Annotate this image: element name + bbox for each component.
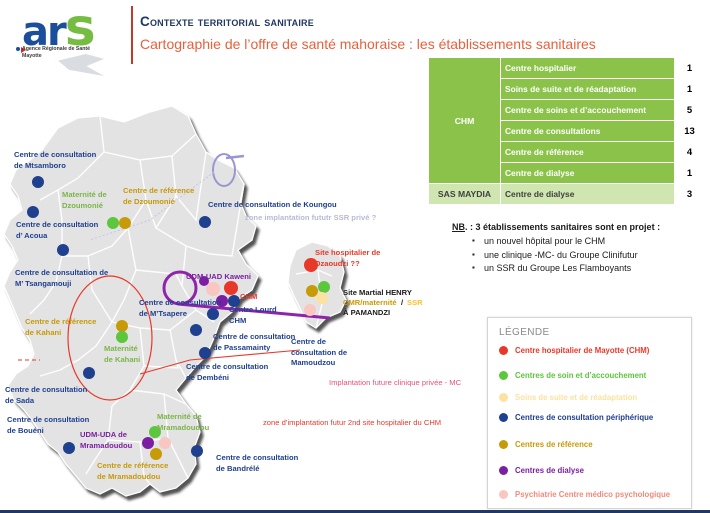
table-cell-value: 4	[675, 142, 705, 163]
map-marker-pt-pamandzi-psy[interactable]	[304, 304, 316, 316]
map-annotation-martial-henry-l1: Site Martial HENRY	[343, 288, 412, 299]
map-marker-pt-mramadoudou-udm[interactable]	[142, 437, 154, 449]
map-label-sada: Centre de consultationde Sada	[5, 385, 87, 406]
table-cell-value: 13	[675, 121, 705, 142]
map-label-line: Mamoudzou	[291, 358, 347, 369]
map-label-line: Centre de consultation	[16, 220, 98, 231]
map-label-line: de M’Tsapere	[139, 309, 221, 320]
legend-dot-icon	[499, 393, 508, 402]
map-annotation-martial-henry-l2c: SSR	[407, 298, 423, 309]
map-label-acoua: Centre de consultationd’ Acoua	[16, 220, 98, 241]
map-label-line: UDM-UAD Kaweni	[186, 272, 251, 283]
map-marker-pt-maternite-kahani[interactable]	[116, 331, 128, 343]
map-annotation-martial-henry-l2a: CMR/maternité	[343, 298, 397, 309]
table-cell-value: 1	[675, 79, 705, 100]
map-label-line: Site hospitalier de	[315, 248, 380, 259]
map-marker-pt-pamandzi-ssr[interactable]	[316, 292, 328, 304]
map-marker-pt-mramadoudou-ref[interactable]	[150, 448, 162, 460]
list-item: un SSR du Groupe Les Flamboyants	[472, 262, 660, 276]
logo-blue-dot-icon	[16, 47, 20, 51]
map-label-boueni: Centre de consultationde Bouéni	[7, 415, 89, 436]
map-annotation-implantation-mc: Implantation future clinique privée - MC	[329, 378, 461, 389]
map-marker-pt-acoua[interactable]	[27, 206, 39, 218]
legend-item-label: Centres de soin et d’accouchement	[515, 371, 646, 380]
legend-item-label: Soins de suite et de réadaptation	[515, 393, 637, 402]
table-cell-label: Centre de soins et d’accouchement	[501, 100, 675, 121]
map-label-line: d’ Acoua	[16, 231, 98, 242]
map-label-line: de Kahani	[104, 355, 140, 366]
legend-dot-icon	[499, 466, 508, 475]
map-label-line: Mramadoudou	[157, 423, 209, 434]
table-cell-label: Centre de dialyse	[501, 163, 675, 184]
map-marker-pt-dembeni[interactable]	[199, 347, 211, 359]
map-label-line: CHM	[240, 292, 257, 303]
map-label-zone-ssr: zone implantation fututr SSR privé ?	[245, 213, 376, 224]
map-label-line: Maternité de	[157, 412, 209, 423]
map-marker-pt-mramadoudou-psy[interactable]	[159, 437, 171, 449]
map-marker-pt-ref-dzoumogne[interactable]	[119, 217, 131, 229]
map-label-mtsamboro: Centre de consultationde Mtsamboro	[14, 150, 96, 171]
legend-item: Centres de consultation périphérique	[499, 413, 653, 422]
map-label-line: Centre de référence	[97, 461, 168, 472]
map-label-line: de Mramadoudou	[97, 472, 168, 483]
map-label-line: Dzoumonié	[62, 201, 107, 212]
legend-dot-icon	[499, 440, 508, 449]
map-marker-pt-mtsangamouji[interactable]	[57, 244, 69, 256]
legend-item: Centres de référence	[499, 440, 593, 449]
legend-dot-icon	[499, 346, 508, 355]
map-label-chm: CHM	[240, 292, 257, 303]
map-label-line: zone implantation fututr SSR privé ?	[245, 213, 376, 224]
map-label-line: Maternité de	[62, 190, 107, 201]
map-label-line: CHM	[229, 316, 277, 327]
map-annotation-zone-2nd-site: zone d’implantation futur 2nd site hospi…	[263, 418, 441, 429]
map-label-line: Centre de consultation de	[15, 268, 108, 279]
map-label-ref-mramadoudou: Centre de référencede Mramadoudou	[97, 461, 168, 482]
legend-item-label: Centres de référence	[515, 440, 593, 449]
map-label-line: de Dembéni	[186, 373, 268, 384]
table-cell-label: Centre hospitalier	[501, 58, 675, 79]
map-marker-pt-boueni[interactable]	[63, 442, 75, 454]
map-label-mtsangamouji: Centre de consultation deM’ Tsangamouji	[15, 268, 108, 289]
map-label-bandrele: Centre de consultationde Bandrélé	[216, 453, 298, 474]
ars-tagline: Agence Régionale de Santé	[22, 46, 90, 53]
table-cell-value: 1	[675, 58, 705, 79]
map-marker-pt-mtsamboro[interactable]	[32, 176, 44, 188]
map-marker-pt-bandrele[interactable]	[191, 445, 203, 457]
map-label-maternite-dzoumogne: Maternité deDzoumonié	[62, 190, 107, 211]
map-label-line: de Sada	[5, 396, 87, 407]
map-marker-pt-maternite-dzoumogne[interactable]	[107, 217, 119, 229]
map-label-line: de Bandrélé	[216, 464, 298, 475]
map-annotation-martial-henry-l2b: /	[401, 298, 403, 309]
map-label-line: Centre de consultation	[186, 362, 268, 373]
map-label-line: de Dzoumonié	[123, 197, 194, 208]
table-cell-value: 5	[675, 100, 705, 121]
map-label-line: Centre de consultation	[14, 150, 96, 161]
page-subtitle: Cartographie de l’offre de santé mahorai…	[140, 36, 596, 52]
legend-item-label: Psychiatrie Centre médico psychologique	[515, 490, 670, 499]
list-item: un nouvel hôpital pour le CHM	[472, 235, 660, 249]
map-label-mamoudzou: Centre deconsultation deMamoudzou	[291, 337, 347, 369]
map-label-line: Centre de référence	[123, 186, 194, 197]
map-label-udm-uda-mramadoudou: UDM-UDA deMramadoudou	[80, 430, 132, 451]
legend-box: LÉGENDE Centre hospitalier de Mayotte (C…	[487, 317, 692, 509]
map-annotation-martial-henry-l3: À PAMANDZI	[343, 308, 390, 319]
table-cell-label: Centre de consultations	[501, 121, 675, 142]
legend-dot-icon	[499, 413, 508, 422]
ars-region: Mayotte	[22, 53, 42, 59]
map-label-maternite-kahani: Maternitéde Kahani	[104, 344, 140, 365]
table-cell-value: 1	[675, 163, 705, 184]
table-cell-label: Soins de suite et de réadaptation	[501, 79, 675, 100]
map-label-line: M’ Tsangamouji	[15, 279, 108, 290]
legend-item: Centres de dialyse	[499, 466, 584, 475]
map-label-line: Centre de consultation	[5, 385, 87, 396]
map-label-line: consultation de	[291, 348, 347, 359]
map-label-udm-uad-kaweni: UDM-UAD Kaweni	[186, 272, 251, 283]
map-label-line: Centre de consultation	[7, 415, 89, 426]
legend-item-label: Centres de dialyse	[515, 466, 584, 475]
project-note-list: un nouvel hôpital pour le CHM une cliniq…	[472, 235, 660, 276]
map-label-line: Centre de référence	[25, 317, 96, 328]
map-label-centre-lourd: Centre LourdCHM	[229, 305, 277, 326]
map-label-line: Centre de consultation	[213, 332, 295, 343]
legend-item: Soins de suite et de réadaptation	[499, 393, 637, 402]
table-cell-label: Centre de référence	[501, 142, 675, 163]
legend-item: Psychiatrie Centre médico psychologique	[499, 490, 670, 499]
header-divider	[131, 6, 133, 64]
table-cell-label: Centre de dialyse	[501, 184, 675, 205]
map-label-line: de Bouéni	[7, 426, 89, 437]
legend-item-label: Centre hospitalier de Mayotte (CHM)	[515, 346, 649, 355]
map-label-line: Centre de	[291, 337, 347, 348]
legend-item: Centres de soin et d’accouchement	[499, 371, 646, 380]
map-label-line: UDM-UDA de	[80, 430, 132, 441]
map-label-koungou: Centre de consultation de Koungou	[208, 200, 337, 211]
legend-dot-icon	[499, 371, 508, 380]
map-marker-pt-koungou[interactable]	[199, 216, 211, 228]
legend-item-label: Centres de consultation périphérique	[515, 413, 653, 422]
map-marker-pt-chm[interactable]	[224, 281, 238, 295]
map-label-line: Maternité	[104, 344, 140, 355]
map-label-dzaoudzi: Site hospitalier deDzaoudzi ??	[315, 248, 380, 269]
map-label-ref-kahani: Centre de référencede Kahani	[25, 317, 96, 338]
list-item: une clinique -MC- du Groupe Clinifutur	[472, 249, 660, 263]
map-label-line: Centre de consultation	[216, 453, 298, 464]
poster-root: ars Agence Régionale de Santé Mayotte Co…	[0, 0, 710, 513]
map-label-passamainty: Centre de consultationde Passamainty	[213, 332, 295, 353]
map-label-line: Centre de consultation	[139, 298, 221, 309]
map-label-dembeni: Centre de consultationde Dembéni	[186, 362, 268, 383]
map-label-line: Centre de consultation de Koungou	[208, 200, 337, 211]
map-label-mtsapere: Centre de consultationde M’Tsapere	[139, 298, 221, 319]
map-label-line: Mramadoudou	[80, 441, 132, 452]
ars-logo: ars Agence Régionale de Santé Mayotte	[14, 6, 126, 64]
legend-item: Centre hospitalier de Mayotte (CHM)	[499, 346, 649, 355]
map-label-line: de Kahani	[25, 328, 96, 339]
map-marker-pt-sada[interactable]	[83, 367, 95, 379]
page-title: Contexte territorial sanitaire	[140, 14, 314, 29]
map-label-line: Dzaoudzi ??	[315, 259, 380, 270]
table-cell-value: 3	[675, 184, 705, 205]
mayotte-map: Centre de consultationde MtsamboroMatern…	[0, 60, 500, 513]
map-marker-pt-kaweni-psy[interactable]	[206, 282, 220, 296]
map-marker-pt-passamainty[interactable]	[190, 324, 202, 336]
map-label-line: de Passamainty	[213, 343, 295, 354]
map-label-ref-dzoumogne: Centre de référencede Dzoumonié	[123, 186, 194, 207]
map-label-line: de Mtsamboro	[14, 161, 96, 172]
map-label-line: Centre Lourd	[229, 305, 277, 316]
legend-dot-icon	[499, 490, 508, 499]
legend-title: LÉGENDE	[499, 327, 550, 338]
map-label-maternite-mramadoudou: Maternité deMramadoudou	[157, 412, 209, 433]
